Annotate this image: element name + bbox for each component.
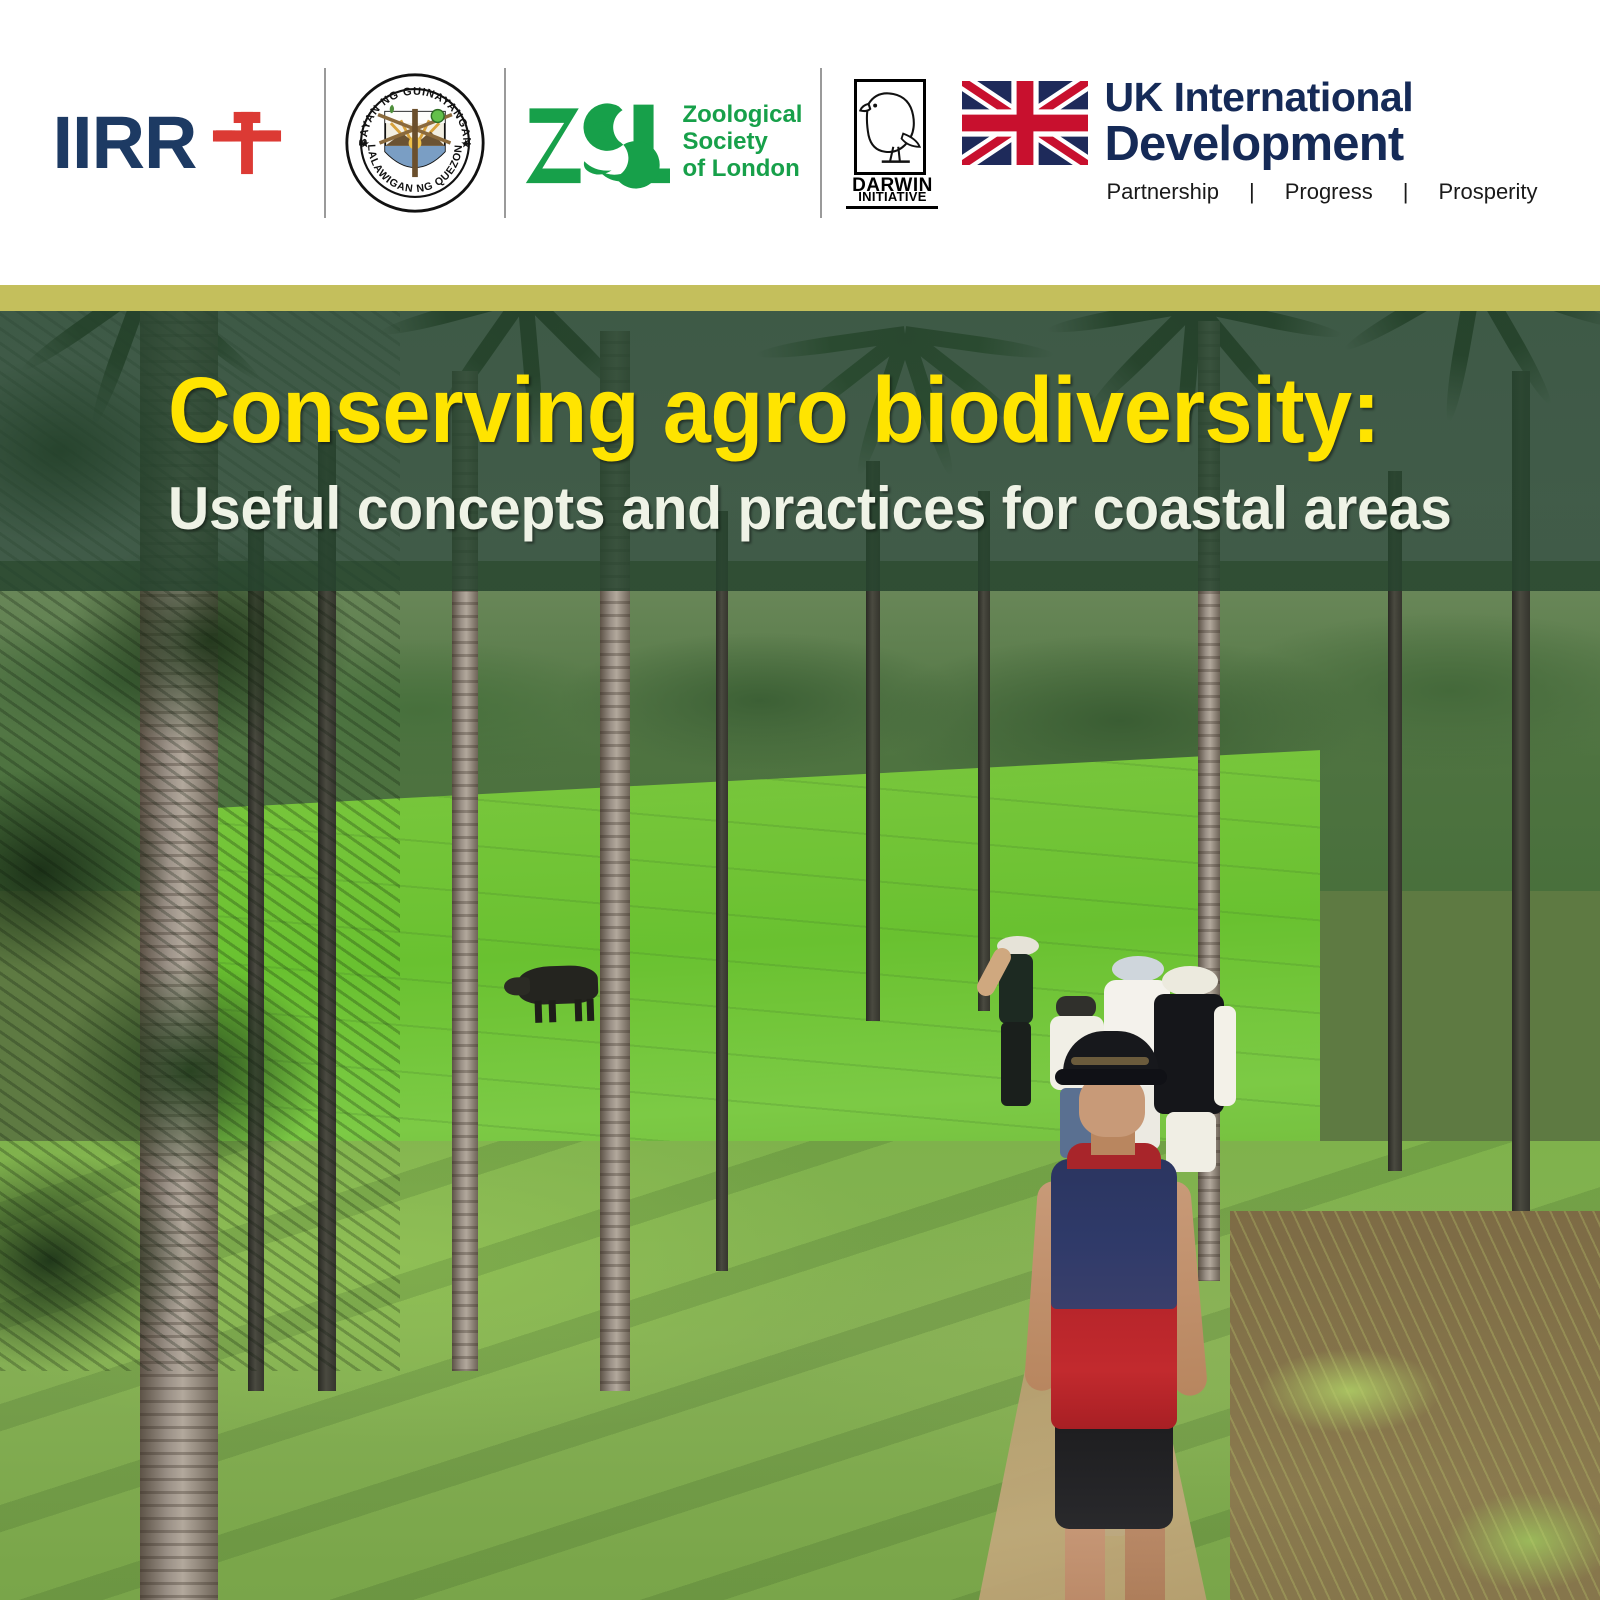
iirr-acronym: IIRR: [52, 106, 196, 180]
darwin-finch-icon: [854, 79, 926, 175]
zsl-wildlife-icon: [524, 97, 670, 189]
iirr-ping-character-icon: [210, 106, 284, 180]
hiker-right-leg: [1125, 1519, 1165, 1600]
logo-guinayangan-seal: BAYAN NG GUINAYANGAN LALAWIGAN NG QUEZON…: [326, 63, 504, 223]
zsl-line-2: Society: [682, 129, 802, 156]
cover-photo: Conserving agro biodiversity: Useful con…: [0, 311, 1600, 1600]
cover-page: IIRR: [0, 0, 1600, 1600]
palm-trunk: [716, 511, 728, 1271]
logo-uk-darwin: DARWIN INITIATIVE UK Internat: [822, 63, 1585, 223]
municipal-seal-icon: BAYAN NG GUINAYANGAN LALAWIGAN NG QUEZON…: [344, 72, 486, 214]
uk-tagline-prosperity: Prosperity: [1408, 179, 1567, 205]
uk-title-line-2: Development: [1104, 120, 1567, 169]
accent-band: [0, 285, 1600, 311]
uk-tagline: Partnership | Progress | Prosperity: [1104, 179, 1567, 205]
logo-row: IIRR: [14, 63, 1585, 223]
svg-text:★: ★: [461, 138, 471, 150]
logo-zsl: Zoological Society of London: [506, 63, 820, 223]
uk-tagline-partnership: Partnership: [1104, 179, 1249, 205]
right-side-grass-blades: [1230, 1211, 1600, 1600]
svg-text:★: ★: [360, 138, 370, 150]
zsl-wordmark: Zoological Society of London: [682, 102, 802, 183]
uk-tagline-progress: Progress: [1255, 179, 1403, 205]
hiker-shorts: [1055, 1419, 1173, 1529]
hiker-cap-stripe: [1071, 1057, 1149, 1065]
page-subtitle: Useful concepts and practices for coasta…: [168, 479, 1414, 539]
union-jack-flag-icon: [962, 81, 1088, 165]
logo-iirr: IIRR: [14, 63, 324, 223]
carabao-water-buffalo: [517, 965, 598, 1006]
darwin-word-line-2: INITIATIVE: [846, 190, 938, 209]
hiker-cap-brim: [1055, 1069, 1167, 1085]
zsl-line-1: Zoological: [682, 102, 802, 129]
title-block: Conserving agro biodiversity: Useful con…: [0, 311, 1600, 591]
hiker-shirt-upper: [1051, 1159, 1177, 1309]
hiker-left-leg: [1065, 1519, 1105, 1600]
darwin-initiative-logo: DARWIN INITIATIVE: [840, 77, 936, 209]
hiker-shirt-lower: [1051, 1299, 1177, 1429]
uk-title-line-1: UK International: [1104, 77, 1567, 118]
page-title: Conserving agro biodiversity:: [168, 364, 1388, 457]
hiker-foreground: [1025, 1031, 1205, 1591]
logo-header: IIRR: [0, 0, 1600, 285]
zsl-line-3: of London: [682, 156, 802, 183]
